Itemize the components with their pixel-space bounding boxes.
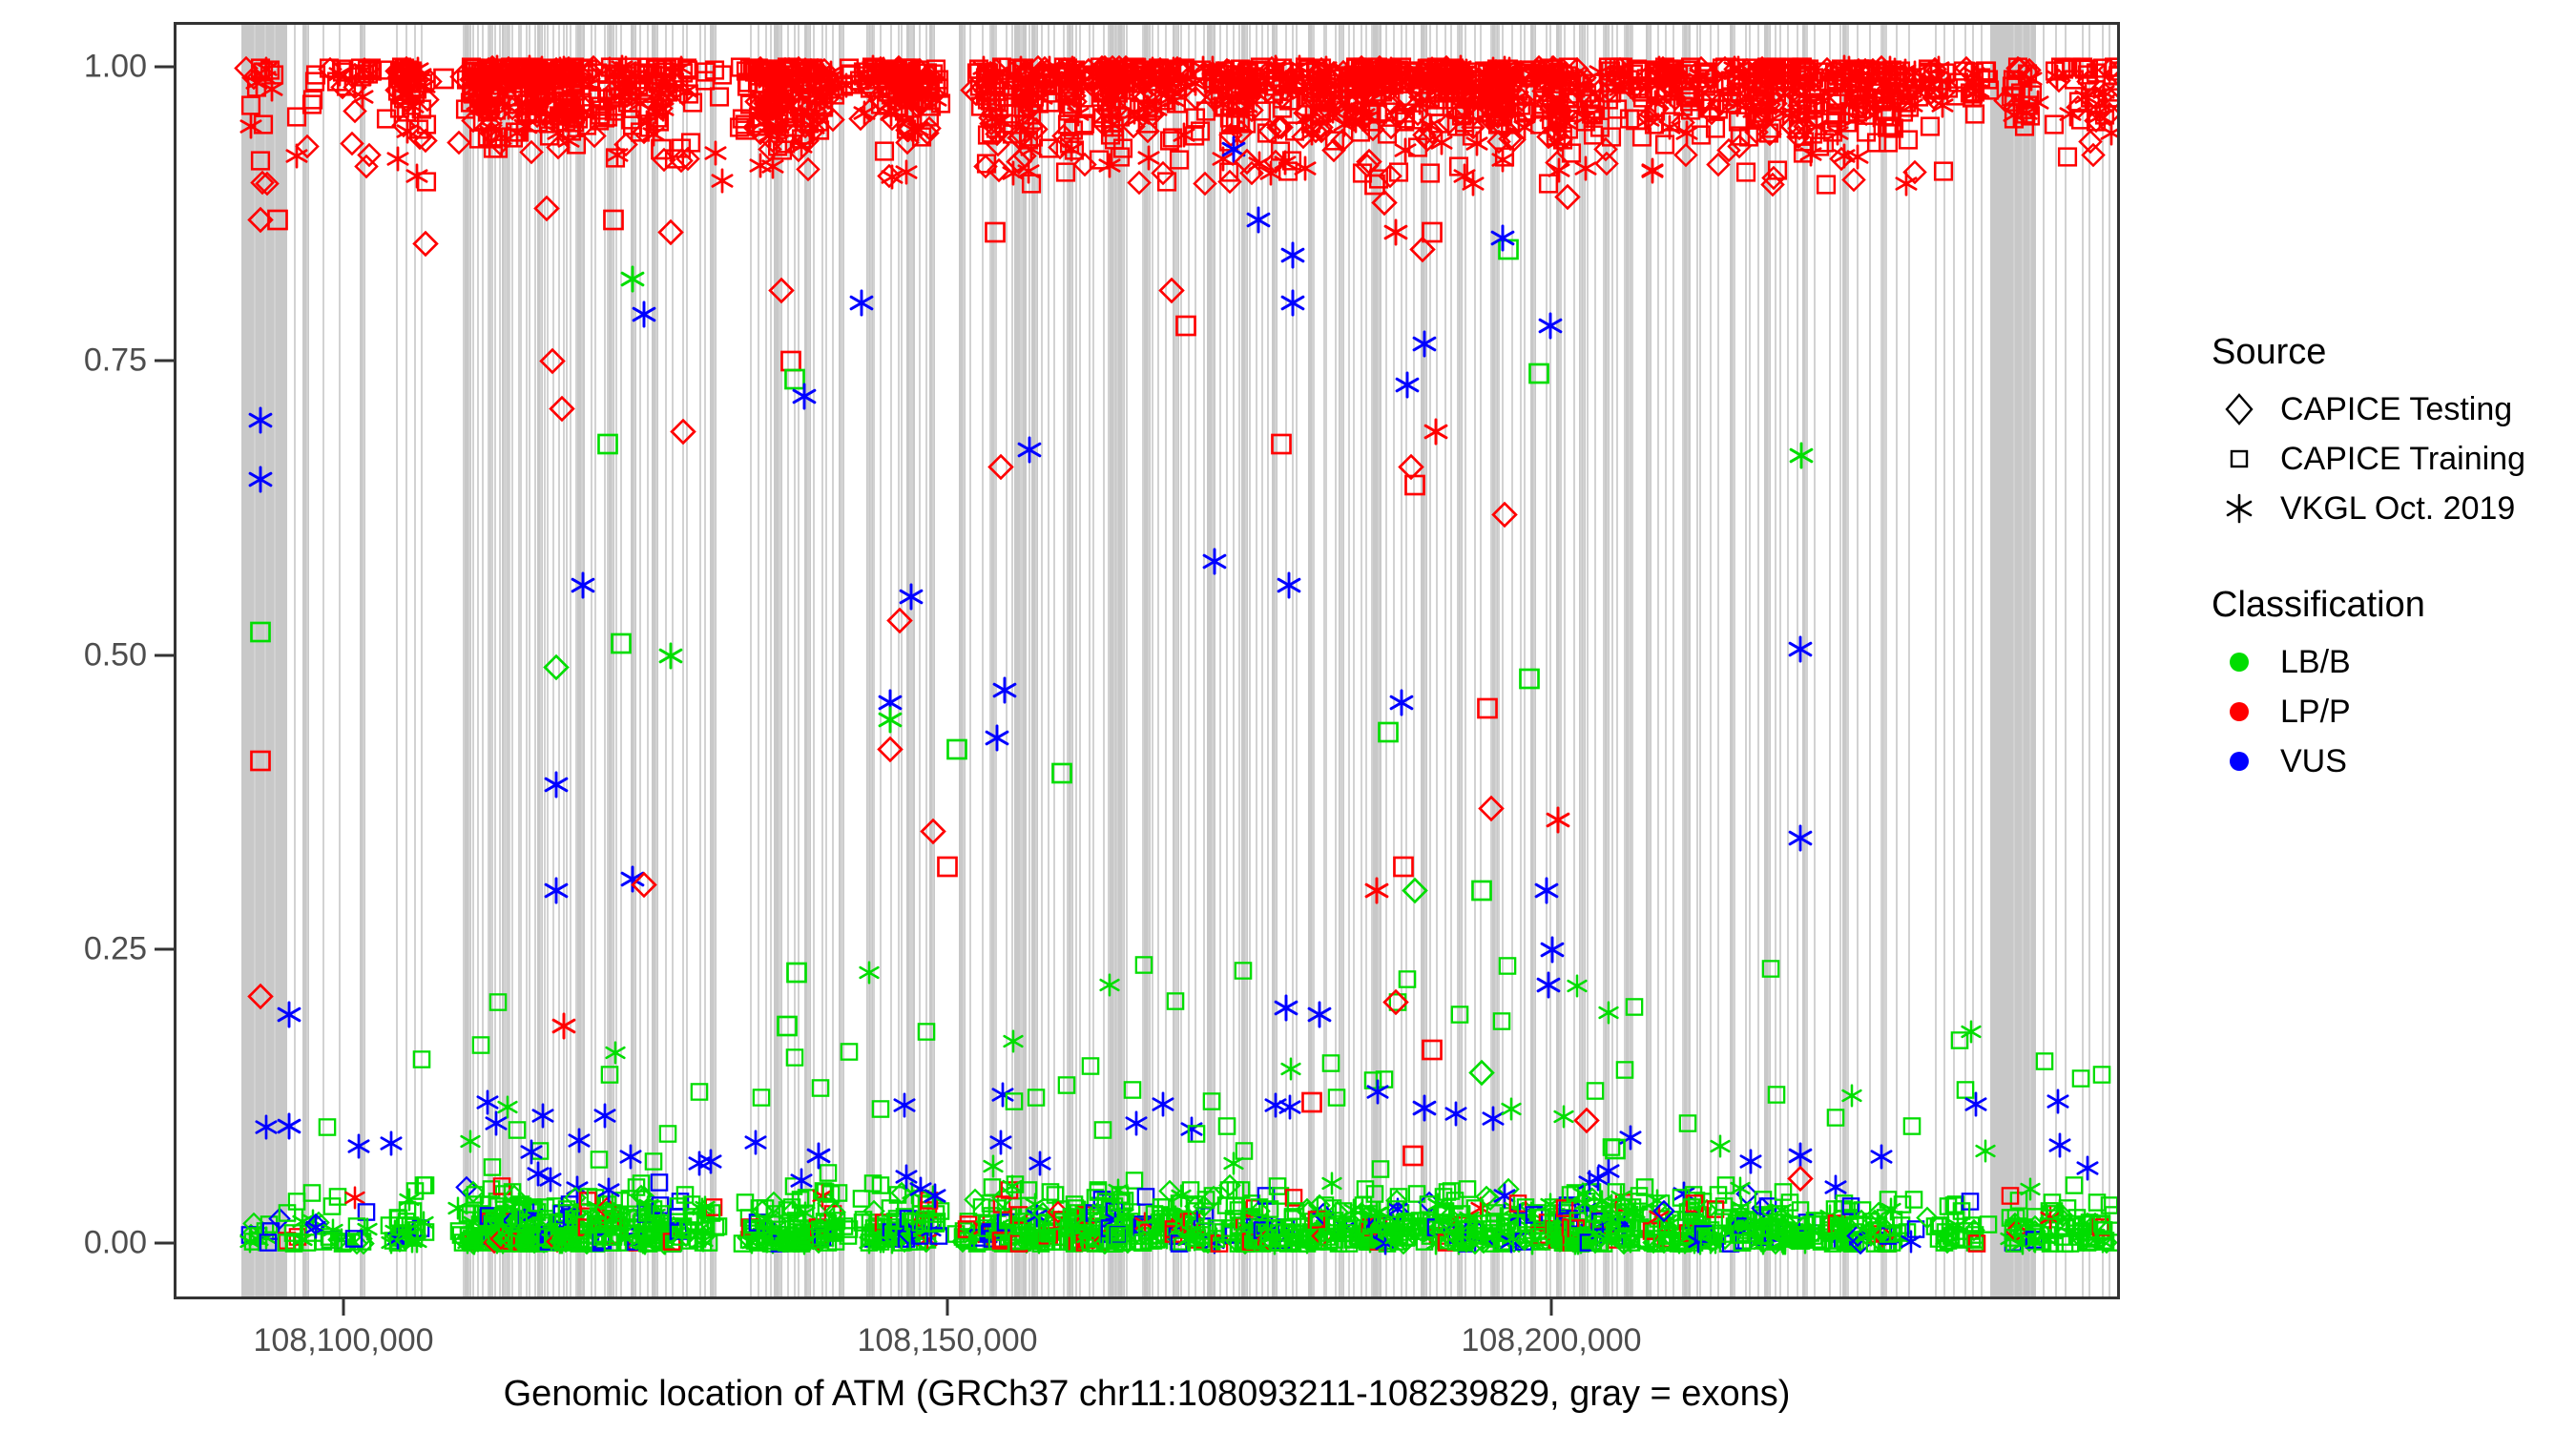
data-point-marker	[1709, 1134, 1732, 1162]
data-point-marker	[387, 59, 412, 89]
data-point-marker	[1781, 1228, 1804, 1255]
data-point-marker	[2092, 82, 2117, 112]
variant-stem	[1972, 25, 1974, 1296]
data-point-marker	[1160, 1205, 1183, 1233]
legend-item-vkgl: VKGL Oct. 2019	[2212, 484, 2565, 533]
data-point-marker	[2059, 1232, 2082, 1259]
legend-label-vkgl: VKGL Oct. 2019	[2267, 490, 2515, 528]
data-point-marker	[2058, 1221, 2081, 1249]
variant-stem	[1245, 25, 1247, 1296]
data-point-marker	[1739, 1230, 1762, 1257]
data-point-marker	[415, 87, 440, 116]
variant-stem	[1165, 25, 1167, 1296]
data-point-marker	[2043, 1199, 2066, 1227]
data-point-marker	[1778, 57, 1803, 87]
data-point-marker	[1735, 58, 1759, 88]
data-point-marker	[414, 1174, 437, 1202]
variant-stem	[880, 25, 882, 1296]
variant-stem	[529, 25, 530, 1296]
data-point-marker	[512, 60, 537, 90]
variant-stem	[1624, 25, 1626, 1296]
variant-stem	[1028, 25, 1030, 1296]
data-point-marker	[1797, 57, 1821, 87]
data-point-marker	[1779, 100, 1804, 130]
data-point-marker	[1788, 442, 1815, 473]
data-point-marker	[748, 93, 773, 122]
data-point-marker	[674, 1183, 696, 1211]
data-point-marker	[1937, 1230, 1960, 1257]
data-point-marker	[1960, 1021, 1983, 1048]
data-point-marker	[1657, 1213, 1680, 1240]
data-point-marker	[1651, 1218, 1673, 1246]
variant-stem	[575, 25, 577, 1296]
data-point-marker	[1744, 1211, 1767, 1238]
data-point-marker	[1657, 70, 1682, 99]
data-point-marker	[1180, 1211, 1203, 1238]
variant-stem	[1261, 25, 1263, 1296]
data-point-marker	[1384, 1220, 1407, 1248]
data-point-marker	[384, 1220, 406, 1248]
data-point-marker	[1739, 56, 1764, 86]
data-point-marker	[2048, 55, 2073, 85]
data-point-marker	[307, 1212, 330, 1239]
data-point-marker	[884, 60, 909, 90]
variant-stem	[2013, 25, 2015, 1296]
data-point-marker	[1549, 68, 1574, 97]
data-point-marker	[2059, 55, 2084, 85]
data-point-marker	[1891, 99, 1916, 129]
variant-stem	[1498, 25, 1500, 1296]
data-point-marker	[874, 93, 899, 123]
y-tick-mark	[155, 66, 174, 69]
data-point-marker	[1900, 66, 1924, 95]
data-point-marker	[944, 736, 970, 768]
variant-stem	[534, 25, 536, 1296]
data-point-marker	[1815, 56, 1839, 86]
data-point-marker	[1656, 57, 1681, 87]
data-point-marker	[1902, 1188, 1925, 1215]
data-point-marker	[1814, 70, 1839, 99]
data-point-marker	[1541, 75, 1566, 105]
data-point-marker	[388, 1230, 411, 1257]
variant-stem	[1896, 25, 1898, 1296]
data-point-marker	[1703, 115, 1728, 145]
data-point-marker	[1938, 1223, 1961, 1251]
data-point-marker	[1807, 134, 1832, 163]
variant-stem	[1768, 25, 1770, 1296]
variant-stem	[1296, 25, 1298, 1296]
variant-stem	[919, 25, 921, 1296]
data-point-marker	[1805, 1213, 1828, 1240]
variant-stem	[558, 25, 560, 1296]
data-point-marker	[735, 74, 759, 104]
variant-stem	[511, 25, 513, 1296]
data-point-marker	[1071, 1210, 1094, 1237]
variant-stem	[1267, 25, 1269, 1296]
data-point-marker	[1769, 73, 1794, 103]
data-point-marker	[647, 109, 672, 138]
variant-stem	[1495, 25, 1497, 1296]
data-point-marker	[405, 1230, 428, 1257]
variant-stem	[1490, 25, 1492, 1296]
legend-spacer	[2212, 533, 2565, 585]
data-point-marker	[511, 1230, 534, 1257]
data-point-marker	[1497, 57, 1522, 87]
variant-stem	[995, 25, 997, 1296]
data-point-marker	[1062, 1211, 1085, 1238]
legend-item-lpp: LP/P	[2212, 687, 2565, 736]
data-point-marker	[1429, 1211, 1452, 1238]
legend-source-title: Source	[2212, 332, 2565, 373]
variant-stem	[1424, 25, 1426, 1296]
data-point-marker	[1541, 55, 1566, 85]
data-point-marker	[1851, 56, 1876, 86]
legend-classification-title: Classification	[2212, 585, 2565, 626]
data-point-marker	[1750, 62, 1775, 92]
data-point-marker	[1278, 1094, 1302, 1124]
data-point-marker	[1927, 1215, 1950, 1243]
variant-stem	[699, 25, 701, 1296]
data-point-marker	[676, 81, 701, 111]
variant-stem	[294, 25, 296, 1296]
variant-stem	[1371, 25, 1373, 1296]
data-point-marker	[1505, 68, 1529, 97]
data-point-marker	[414, 113, 439, 142]
variant-stem	[499, 25, 501, 1296]
variant-stem	[2055, 25, 2057, 1296]
variant-stem	[1549, 25, 1551, 1296]
capice-atm-scatter-figure: CAPICE score (pathogenicity estimate) 1.…	[0, 0, 2576, 1431]
legend-item-capice-training: CAPICE Training	[2212, 434, 2565, 484]
data-point-marker	[2068, 1225, 2091, 1253]
data-point-marker	[1847, 1213, 1870, 1241]
data-point-marker	[2102, 55, 2120, 85]
data-point-marker	[2046, 68, 2071, 97]
variant-stem	[1607, 25, 1609, 1296]
variant-stem	[821, 25, 823, 1296]
variant-stem	[2022, 25, 2024, 1296]
data-point-marker	[1550, 1201, 1573, 1229]
data-point-marker	[744, 1229, 767, 1256]
data-point-marker	[2075, 1224, 2098, 1252]
data-point-marker	[412, 230, 439, 261]
variant-stem	[982, 25, 984, 1296]
variant-stem	[798, 25, 800, 1296]
data-point-marker	[2033, 1050, 2056, 1078]
data-point-marker	[875, 1225, 898, 1253]
variant-stem	[963, 25, 965, 1296]
variant-stem	[491, 25, 493, 1296]
variant-stem	[1113, 25, 1115, 1296]
lbb-color-dot-icon	[2212, 637, 2267, 687]
data-point-marker	[1787, 1166, 1814, 1197]
data-point-marker	[1379, 64, 1403, 93]
variant-stem	[2029, 25, 2031, 1296]
variant-stem	[1393, 25, 1395, 1296]
data-point-marker	[1657, 115, 1682, 145]
variant-stem	[1188, 25, 1190, 1296]
variant-stem	[1275, 25, 1277, 1296]
data-point-marker	[1856, 59, 1880, 89]
variant-stem	[1341, 25, 1343, 1296]
data-point-marker	[379, 1130, 404, 1160]
variant-stem	[405, 25, 407, 1296]
data-point-marker	[1735, 1209, 1758, 1236]
y-tick-label: 1.00	[84, 49, 147, 86]
data-point-marker	[1787, 824, 1814, 856]
data-point-marker	[1937, 1224, 1960, 1252]
variant-stem	[1682, 25, 1684, 1296]
variant-stem	[655, 25, 657, 1296]
variant-stem	[1348, 25, 1350, 1296]
x-tick-label: 108,100,000	[253, 1322, 433, 1359]
variant-stem	[1385, 25, 1387, 1296]
data-point-marker	[626, 1207, 649, 1234]
data-point-marker	[414, 1220, 437, 1248]
data-point-marker	[1704, 1231, 1727, 1258]
data-point-marker	[332, 1232, 355, 1259]
data-point-marker	[1787, 1142, 1814, 1173]
variant-stem	[509, 25, 510, 1296]
data-point-marker	[2066, 95, 2090, 125]
variant-stem	[639, 25, 641, 1296]
data-point-marker	[1388, 1221, 1411, 1249]
variant-stem	[1429, 25, 1431, 1296]
variant-stem	[396, 25, 398, 1296]
data-point-marker	[883, 58, 907, 88]
data-point-marker	[1450, 60, 1475, 90]
data-point-marker	[2076, 1213, 2099, 1240]
variant-stem	[1249, 25, 1251, 1296]
data-point-marker	[2076, 1226, 2099, 1254]
data-point-marker	[874, 1228, 897, 1255]
variant-stem	[1378, 25, 1380, 1296]
data-point-marker	[397, 70, 422, 99]
data-point-marker	[1750, 110, 1775, 139]
data-point-marker	[2075, 1213, 2098, 1240]
data-point-marker	[1774, 1230, 1797, 1257]
variant-stem	[1325, 25, 1327, 1296]
variant-stem	[1611, 25, 1613, 1296]
variant-stem	[1981, 25, 1983, 1296]
data-point-marker	[1944, 1192, 1967, 1220]
variant-stem	[472, 25, 474, 1296]
data-point-marker	[1397, 1226, 1420, 1254]
data-point-marker	[1386, 160, 1411, 190]
data-point-marker	[334, 1231, 357, 1258]
variant-stem	[1757, 25, 1759, 1296]
data-point-marker	[1891, 1193, 1914, 1221]
legend-label-lbb: LB/B	[2267, 644, 2351, 681]
variant-stem	[1401, 25, 1402, 1296]
variant-stem	[989, 25, 991, 1296]
data-point-marker	[1963, 1232, 1986, 1259]
variant-stem	[1583, 25, 1585, 1296]
data-point-marker	[1325, 1087, 1348, 1114]
data-point-marker	[430, 66, 457, 97]
data-point-marker	[1151, 1208, 1174, 1235]
variant-stem	[686, 25, 688, 1296]
data-point-marker	[380, 1231, 403, 1258]
variant-stem	[563, 25, 565, 1296]
data-point-marker	[1444, 1189, 1466, 1216]
data-point-marker	[1751, 73, 1776, 103]
y-tick-mark	[155, 653, 174, 656]
data-point-marker	[1963, 1229, 1986, 1256]
data-point-marker	[2092, 102, 2117, 132]
data-point-marker	[1497, 58, 1522, 88]
data-point-marker	[346, 1133, 371, 1163]
data-point-marker	[511, 1230, 534, 1257]
data-point-marker	[2055, 145, 2080, 175]
data-point-marker	[1921, 67, 1945, 96]
data-point-marker	[1633, 1230, 1656, 1257]
variant-stem	[1847, 25, 1849, 1296]
variant-stem	[1814, 25, 1816, 1296]
data-point-marker	[834, 73, 859, 103]
data-point-marker	[316, 1115, 339, 1143]
data-point-marker	[1789, 1229, 1812, 1256]
data-point-marker	[1465, 59, 1490, 89]
data-point-marker	[2095, 1232, 2118, 1259]
data-point-marker	[329, 56, 354, 86]
variant-stem	[1880, 25, 1882, 1296]
data-point-marker	[1958, 80, 1983, 110]
data-point-marker	[405, 76, 429, 106]
data-point-marker	[510, 79, 535, 109]
data-point-marker	[885, 1223, 908, 1251]
data-point-marker	[1266, 114, 1291, 144]
variant-stem	[591, 25, 592, 1296]
variant-stem	[1413, 25, 1415, 1296]
data-point-marker	[742, 1219, 765, 1247]
variant-stem	[758, 25, 759, 1296]
variant-stem	[1943, 25, 1945, 1296]
data-point-marker	[1559, 1183, 1582, 1211]
data-point-marker	[2102, 1203, 2120, 1231]
x-tick-label: 108,200,000	[1461, 1322, 1641, 1359]
variant-stem	[1480, 25, 1482, 1296]
data-point-marker	[398, 1189, 421, 1216]
data-point-marker	[799, 62, 823, 92]
data-point-marker	[1716, 137, 1741, 167]
data-point-marker	[1450, 83, 1475, 113]
data-point-marker	[1916, 56, 1941, 86]
data-point-marker	[1379, 71, 1403, 100]
y-tick-label: 0.25	[84, 930, 147, 967]
variant-stem	[1594, 25, 1596, 1296]
data-point-marker	[1180, 1220, 1203, 1248]
data-point-marker	[1900, 1231, 1922, 1258]
variant-stem	[1041, 25, 1043, 1296]
data-point-marker	[1788, 102, 1813, 132]
data-point-marker	[1087, 1178, 1110, 1206]
data-point-marker	[1062, 56, 1087, 86]
variant-stem	[1075, 25, 1077, 1296]
variant-stem	[1964, 25, 1966, 1296]
variant-stem	[1734, 25, 1735, 1296]
data-point-marker	[1896, 1221, 1919, 1249]
data-point-marker	[1429, 1227, 1452, 1255]
data-point-marker	[512, 71, 537, 100]
x-tick-label: 108,150,000	[857, 1322, 1037, 1359]
data-point-marker	[405, 1219, 428, 1247]
data-point-marker	[355, 58, 380, 88]
data-point-marker	[397, 58, 422, 88]
variant-stem	[1285, 25, 1287, 1296]
variant-stem	[1839, 25, 1841, 1296]
data-point-marker	[1744, 1209, 1767, 1236]
variant-stem	[1365, 25, 1367, 1296]
variant-stem	[1745, 25, 1747, 1296]
data-point-marker	[1859, 1211, 1882, 1238]
variant-stem	[794, 25, 796, 1296]
data-point-marker	[740, 1217, 763, 1245]
data-point-marker	[1436, 1181, 1459, 1209]
data-point-marker	[395, 90, 420, 119]
data-point-marker	[733, 117, 758, 147]
data-point-marker	[1506, 1192, 1529, 1220]
variant-stem	[1079, 25, 1081, 1296]
data-point-marker	[1966, 78, 1991, 108]
variant-stem	[1649, 25, 1651, 1296]
data-point-marker	[817, 1232, 840, 1259]
data-point-marker	[874, 60, 899, 90]
data-point-marker	[1916, 59, 1941, 89]
data-point-marker	[1851, 56, 1876, 86]
data-point-marker	[398, 58, 423, 88]
variant-stem	[1180, 25, 1182, 1296]
data-point-marker	[1506, 78, 1530, 108]
data-point-marker	[1379, 57, 1403, 87]
variant-stem	[1212, 25, 1214, 1296]
data-point-marker	[1937, 1195, 1960, 1223]
variant-stem	[607, 25, 609, 1296]
data-point-marker	[354, 155, 379, 184]
data-point-marker	[883, 1210, 906, 1237]
y-tick-label: 0.50	[84, 636, 147, 674]
variant-stem	[1361, 25, 1362, 1296]
data-point-marker	[736, 70, 760, 99]
variant-stem	[750, 25, 752, 1296]
lpp-color-dot-icon	[2212, 687, 2267, 736]
data-point-marker	[390, 74, 415, 104]
data-point-marker	[781, 1217, 804, 1245]
variant-stem	[1665, 25, 1667, 1296]
data-point-marker	[1927, 1227, 1950, 1255]
variant-stem	[1108, 25, 1110, 1296]
data-point-marker	[1935, 75, 1960, 105]
data-point-marker	[748, 153, 773, 182]
variant-stem	[1460, 25, 1462, 1296]
variant-stem	[1797, 25, 1798, 1296]
data-point-marker	[2076, 1222, 2099, 1250]
data-point-marker	[1851, 90, 1876, 119]
data-point-marker	[2047, 1214, 2070, 1242]
data-point-marker	[1948, 1227, 1971, 1255]
variant-stem	[1148, 25, 1150, 1296]
variant-stem	[2065, 25, 2067, 1296]
variant-stem	[570, 25, 571, 1296]
data-point-marker	[1079, 1054, 1102, 1082]
data-point-marker	[1342, 73, 1367, 103]
variant-stem	[901, 25, 903, 1296]
variant-stem	[890, 25, 892, 1296]
data-point-marker	[1040, 1219, 1063, 1247]
variant-stem	[634, 25, 635, 1296]
data-point-marker	[883, 56, 907, 86]
data-point-marker	[1901, 71, 1926, 100]
